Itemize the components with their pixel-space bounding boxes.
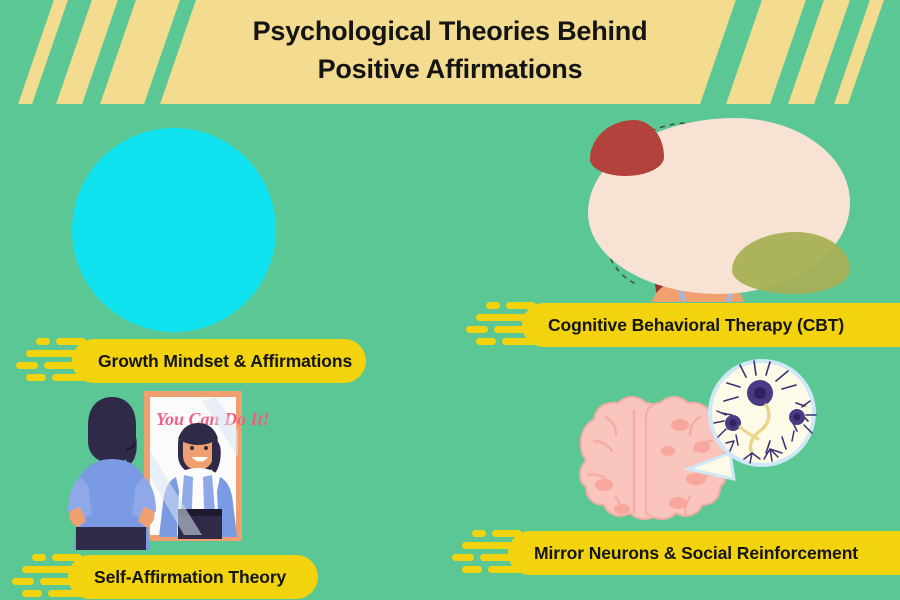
banner-pill-cbt[interactable]: Cognitive Behavioral Therapy (CBT) bbox=[522, 303, 900, 347]
speedline-decoration bbox=[4, 548, 82, 600]
speedline-decoration bbox=[8, 332, 86, 390]
banner-label-cbt: Cognitive Behavioral Therapy (CBT) bbox=[548, 315, 844, 336]
banner-pill-growth-mindset[interactable]: Growth Mindset & Affirmations bbox=[72, 339, 366, 383]
banner-self-affirmation[interactable]: Self-Affirmation Theory bbox=[4, 548, 318, 600]
woman-back-view-figure bbox=[68, 397, 156, 550]
banner-cbt[interactable]: Cognitive Behavioral Therapy (CBT) bbox=[458, 296, 900, 354]
growth-mindset-illustration bbox=[72, 128, 276, 332]
page-title-line1: Psychological Theories Behind bbox=[253, 16, 648, 46]
banner-label-growth-mindset: Growth Mindset & Affirmations bbox=[98, 351, 352, 372]
banner-pill-mirror-neurons[interactable]: Mirror Neurons & Social Reinforcement bbox=[508, 531, 900, 575]
banner-growth-mindset[interactable]: Growth Mindset & Affirmations bbox=[8, 332, 366, 390]
self-affirmation-illustration: You Can Do It! bbox=[66, 385, 284, 550]
cyan-circle-backdrop bbox=[72, 128, 276, 332]
cbt-illustration bbox=[568, 112, 868, 312]
banner-mirror-neurons[interactable]: Mirror Neurons & Social Reinforcement bbox=[444, 524, 900, 582]
page-title-line2: Positive Affirmations bbox=[0, 50, 900, 88]
mirror-neurons-illustration bbox=[560, 355, 830, 540]
infographic-canvas: Psychological Theories Behind Positive A… bbox=[0, 0, 900, 600]
speedline-decoration bbox=[458, 296, 536, 354]
brain-with-neuron-speech-bubble-icon bbox=[560, 355, 830, 540]
header-band: Psychological Theories Behind Positive A… bbox=[0, 0, 900, 104]
page-title: Psychological Theories Behind Positive A… bbox=[0, 12, 900, 89]
banner-pill-self-affirmation[interactable]: Self-Affirmation Theory bbox=[68, 555, 318, 599]
speedline-decoration bbox=[444, 524, 522, 582]
banner-label-mirror-neurons: Mirror Neurons & Social Reinforcement bbox=[534, 543, 858, 564]
banner-label-self-affirmation: Self-Affirmation Theory bbox=[94, 567, 286, 588]
woman-looking-in-mirror-icon: You Can Do It! bbox=[66, 385, 284, 550]
